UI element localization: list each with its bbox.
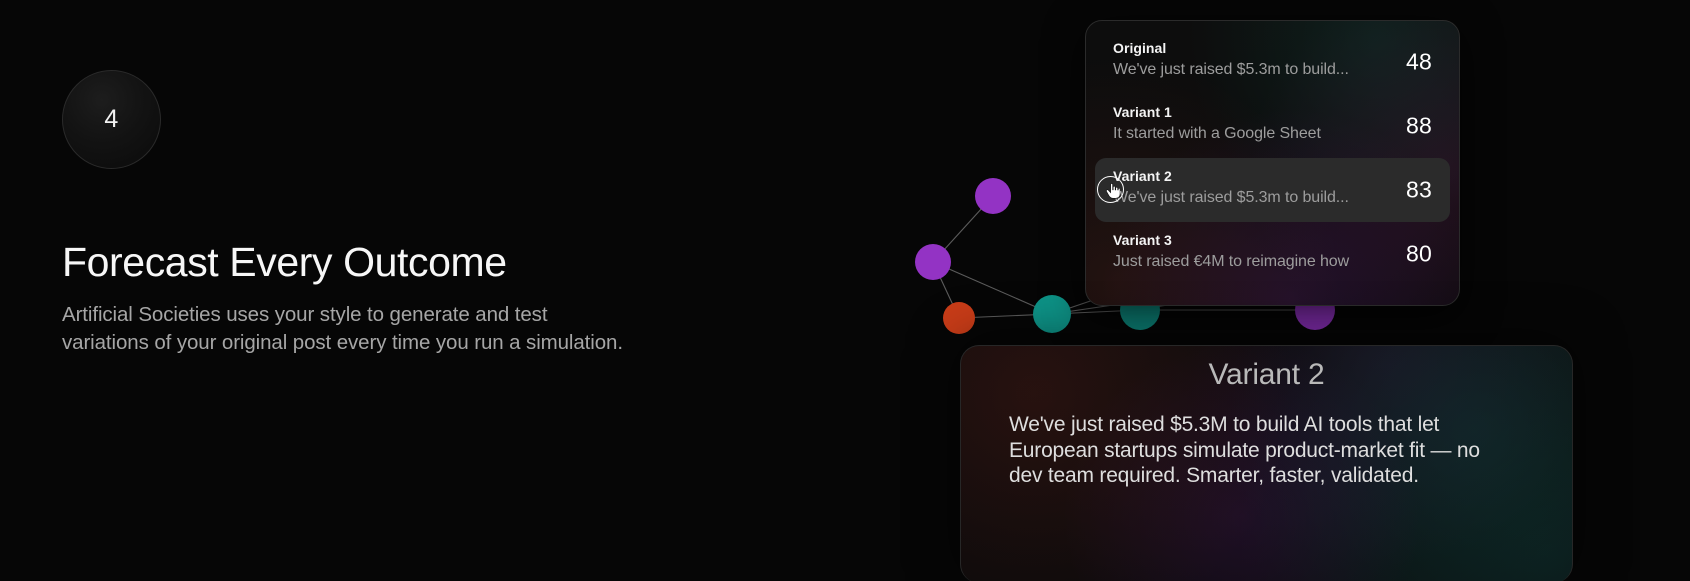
variant-detail-card: Variant 2 We've just raised $5.3M to bui… bbox=[960, 345, 1573, 581]
network-node-3 bbox=[1033, 295, 1071, 333]
variant-row-score: 88 bbox=[1406, 113, 1432, 140]
variant-row-preview: Just raised €4M to reimagine how bbox=[1113, 250, 1450, 274]
variant-list-card: OriginalWe've just raised $5.3m to build… bbox=[1085, 20, 1460, 306]
network-node-2 bbox=[943, 302, 975, 334]
variant-detail-body-line-1: We've just raised $5.3M to build AI tool… bbox=[1009, 413, 1439, 436]
variant-row-title: Variant 3 bbox=[1113, 231, 1450, 249]
variant-row-title: Variant 2 bbox=[1113, 167, 1450, 185]
text-column: 4 Forecast Every Outcome Artificial Soci… bbox=[62, 0, 822, 581]
variant-row-title: Original bbox=[1113, 39, 1450, 57]
variant-detail-body-line-3: dev team required. Smarter, faster, vali… bbox=[1009, 464, 1419, 487]
network-node-0 bbox=[975, 178, 1011, 214]
variant-row-score: 48 bbox=[1406, 49, 1432, 76]
variant-row-score: 80 bbox=[1406, 241, 1432, 268]
variant-row-3[interactable]: Variant 3Just raised €4M to reimagine ho… bbox=[1095, 222, 1450, 286]
variant-row-preview: We've just raised $5.3m to build... bbox=[1113, 186, 1450, 210]
page-subtitle-line-2: variations of your original post every t… bbox=[62, 329, 762, 357]
variant-row-title: Variant 1 bbox=[1113, 103, 1450, 121]
page-subtitle: Artificial Societies uses your style to … bbox=[62, 301, 762, 357]
variant-row-preview: It started with a Google Sheet bbox=[1113, 122, 1450, 146]
page-subtitle-line-1: Artificial Societies uses your style to … bbox=[62, 301, 762, 329]
network-node-1 bbox=[915, 244, 951, 280]
variant-row-0[interactable]: OriginalWe've just raised $5.3m to build… bbox=[1095, 30, 1450, 94]
step-number-badge: 4 bbox=[62, 70, 161, 169]
variant-row-2[interactable]: Variant 2We've just raised $5.3m to buil… bbox=[1095, 158, 1450, 222]
variant-row-1[interactable]: Variant 1It started with a Google Sheet8… bbox=[1095, 94, 1450, 158]
variant-detail-body-line-2: European startups simulate product-marke… bbox=[1009, 439, 1480, 462]
variant-detail-title: Variant 2 bbox=[961, 358, 1572, 392]
page-title: Forecast Every Outcome bbox=[62, 239, 507, 286]
step-number-label: 4 bbox=[104, 105, 118, 134]
variant-row-score: 83 bbox=[1406, 177, 1432, 204]
variant-row-preview: We've just raised $5.3m to build... bbox=[1113, 58, 1450, 82]
slide-root: 4 Forecast Every Outcome Artificial Soci… bbox=[0, 0, 1690, 581]
variant-detail-body: We've just raised $5.3M to build AI tool… bbox=[1009, 412, 1509, 489]
